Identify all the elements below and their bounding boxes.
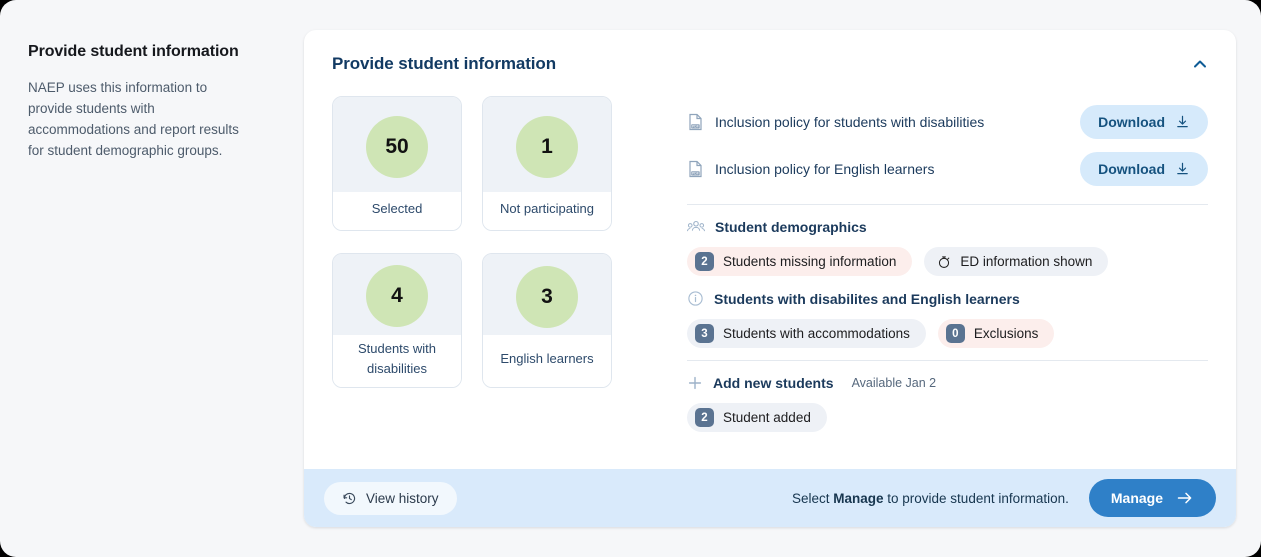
sidebar-description: NAEP uses this information to provide st… [28,78,253,162]
download-button-disabilities[interactable]: Download [1080,105,1208,139]
download-icon [1175,114,1190,129]
stat-card-top: 1 [483,97,611,192]
section-title: Student demographics [715,219,867,235]
pdf-file-icon: PDF [687,113,704,131]
section-student-demographics: Student demographics 2 Students missing … [687,205,1208,276]
svg-text:PDF: PDF [692,124,699,128]
footer-hint: Select Manage to provide student informa… [792,491,1069,506]
manage-button[interactable]: Manage [1089,479,1216,517]
card-title: Provide student information [332,54,1208,74]
section-title: Students with disabilites and English le… [714,291,1020,307]
document-label-group: PDF Inclusion policy for English learner… [687,160,1080,178]
collapse-toggle-button[interactable] [1184,48,1216,80]
download-icon [1175,161,1190,176]
document-label-group: PDF Inclusion policy for students with d… [687,113,1080,131]
download-button-label: Download [1098,161,1165,177]
history-icon [342,491,357,506]
stat-value: 1 [516,116,578,178]
manage-button-label: Manage [1111,490,1163,506]
stat-card-top: 4 [333,254,461,335]
hint-prefix: Select [792,491,833,506]
stat-value: 4 [366,265,428,327]
stat-label: Not participating [483,192,611,230]
document-name: Inclusion policy for students with disab… [715,114,984,130]
section-pills: 2 Students missing information ED inform… [687,247,1208,276]
pill-label: Students missing information [723,254,896,269]
pdf-file-icon: PDF [687,160,704,178]
pill-count: 3 [695,324,714,343]
pill-exclusions[interactable]: 0 Exclusions [938,319,1055,348]
card-header: Provide student information [304,30,1236,74]
stat-card-students-with-disabilities[interactable]: 4 Students with disabilities [332,253,462,388]
pill-count: 2 [695,252,714,271]
pill-students-with-accommodations[interactable]: 3 Students with accommodations [687,319,926,348]
stat-card-top: 50 [333,97,461,192]
sidebar-title: Provide student information [28,40,253,64]
section-add-new-students: Add new students Available Jan 2 2 Stude… [687,361,1208,432]
pill-students-missing-information[interactable]: 2 Students missing information [687,247,912,276]
arrow-right-icon [1176,490,1194,506]
hint-bold: Manage [833,491,883,506]
stat-card-not-participating[interactable]: 1 Not participating [482,96,612,231]
stat-card-english-learners[interactable]: 3 English learners [482,253,612,388]
section-disabilities-and-english-learners: Students with disabilites and English le… [687,276,1208,348]
student-count-cards: 50 Selected 1 Not participating 4 Studen… [332,96,632,469]
download-button-label: Download [1098,114,1165,130]
stat-card-selected[interactable]: 50 Selected [332,96,462,231]
section-title: Add new students [713,375,834,391]
pill-label: Exclusions [974,326,1039,341]
stat-label: English learners [483,335,611,387]
pill-label: ED information shown [960,254,1092,269]
availability-text: Available Jan 2 [852,376,937,390]
student-information-card: Provide student information 50 Selected [304,30,1236,527]
user-group-icon [687,219,705,235]
stat-value: 50 [366,116,428,178]
download-button-english-learners[interactable]: Download [1080,152,1208,186]
section-pills: 2 Student added [687,403,1208,432]
hint-suffix: to provide student information. [884,491,1069,506]
section-header[interactable]: Add new students Available Jan 2 [687,375,1208,391]
details-column: PDF Inclusion policy for students with d… [632,96,1208,469]
plus-icon [687,375,703,391]
pill-student-added[interactable]: 2 Student added [687,403,827,432]
document-row-english-learners: PDF Inclusion policy for English learner… [687,145,1208,192]
card-body: 50 Selected 1 Not participating 4 Studen… [304,74,1236,469]
view-history-label: View history [366,491,439,506]
pill-label: Students with accommodations [723,326,910,341]
svg-text:PDF: PDF [692,171,699,175]
app-root: Provide student information NAEP uses th… [0,0,1261,557]
document-row-disabilities: PDF Inclusion policy for students with d… [687,98,1208,145]
stat-label: Selected [333,192,461,230]
section-header: Students with disabilites and English le… [687,290,1208,307]
footer-actions: Select Manage to provide student informa… [792,479,1216,517]
view-history-button[interactable]: View history [324,482,457,515]
document-name: Inclusion policy for English learners [715,161,934,177]
pill-count: 0 [946,324,965,343]
info-circle-icon [687,290,704,307]
stat-card-top: 3 [483,254,611,335]
pill-ed-information-shown[interactable]: ED information shown [924,247,1108,276]
stat-label: Students with disabilities [333,335,461,387]
section-header: Student demographics [687,219,1208,235]
card-footer: View history Select Manage to provide st… [304,469,1236,527]
pill-label: Student added [723,410,811,425]
timer-icon [937,255,951,269]
stat-value: 3 [516,266,578,328]
sidebar: Provide student information NAEP uses th… [28,40,253,162]
pill-count: 2 [695,408,714,427]
chevron-up-icon [1190,54,1210,74]
section-pills: 3 Students with accommodations 0 Exclusi… [687,319,1208,348]
